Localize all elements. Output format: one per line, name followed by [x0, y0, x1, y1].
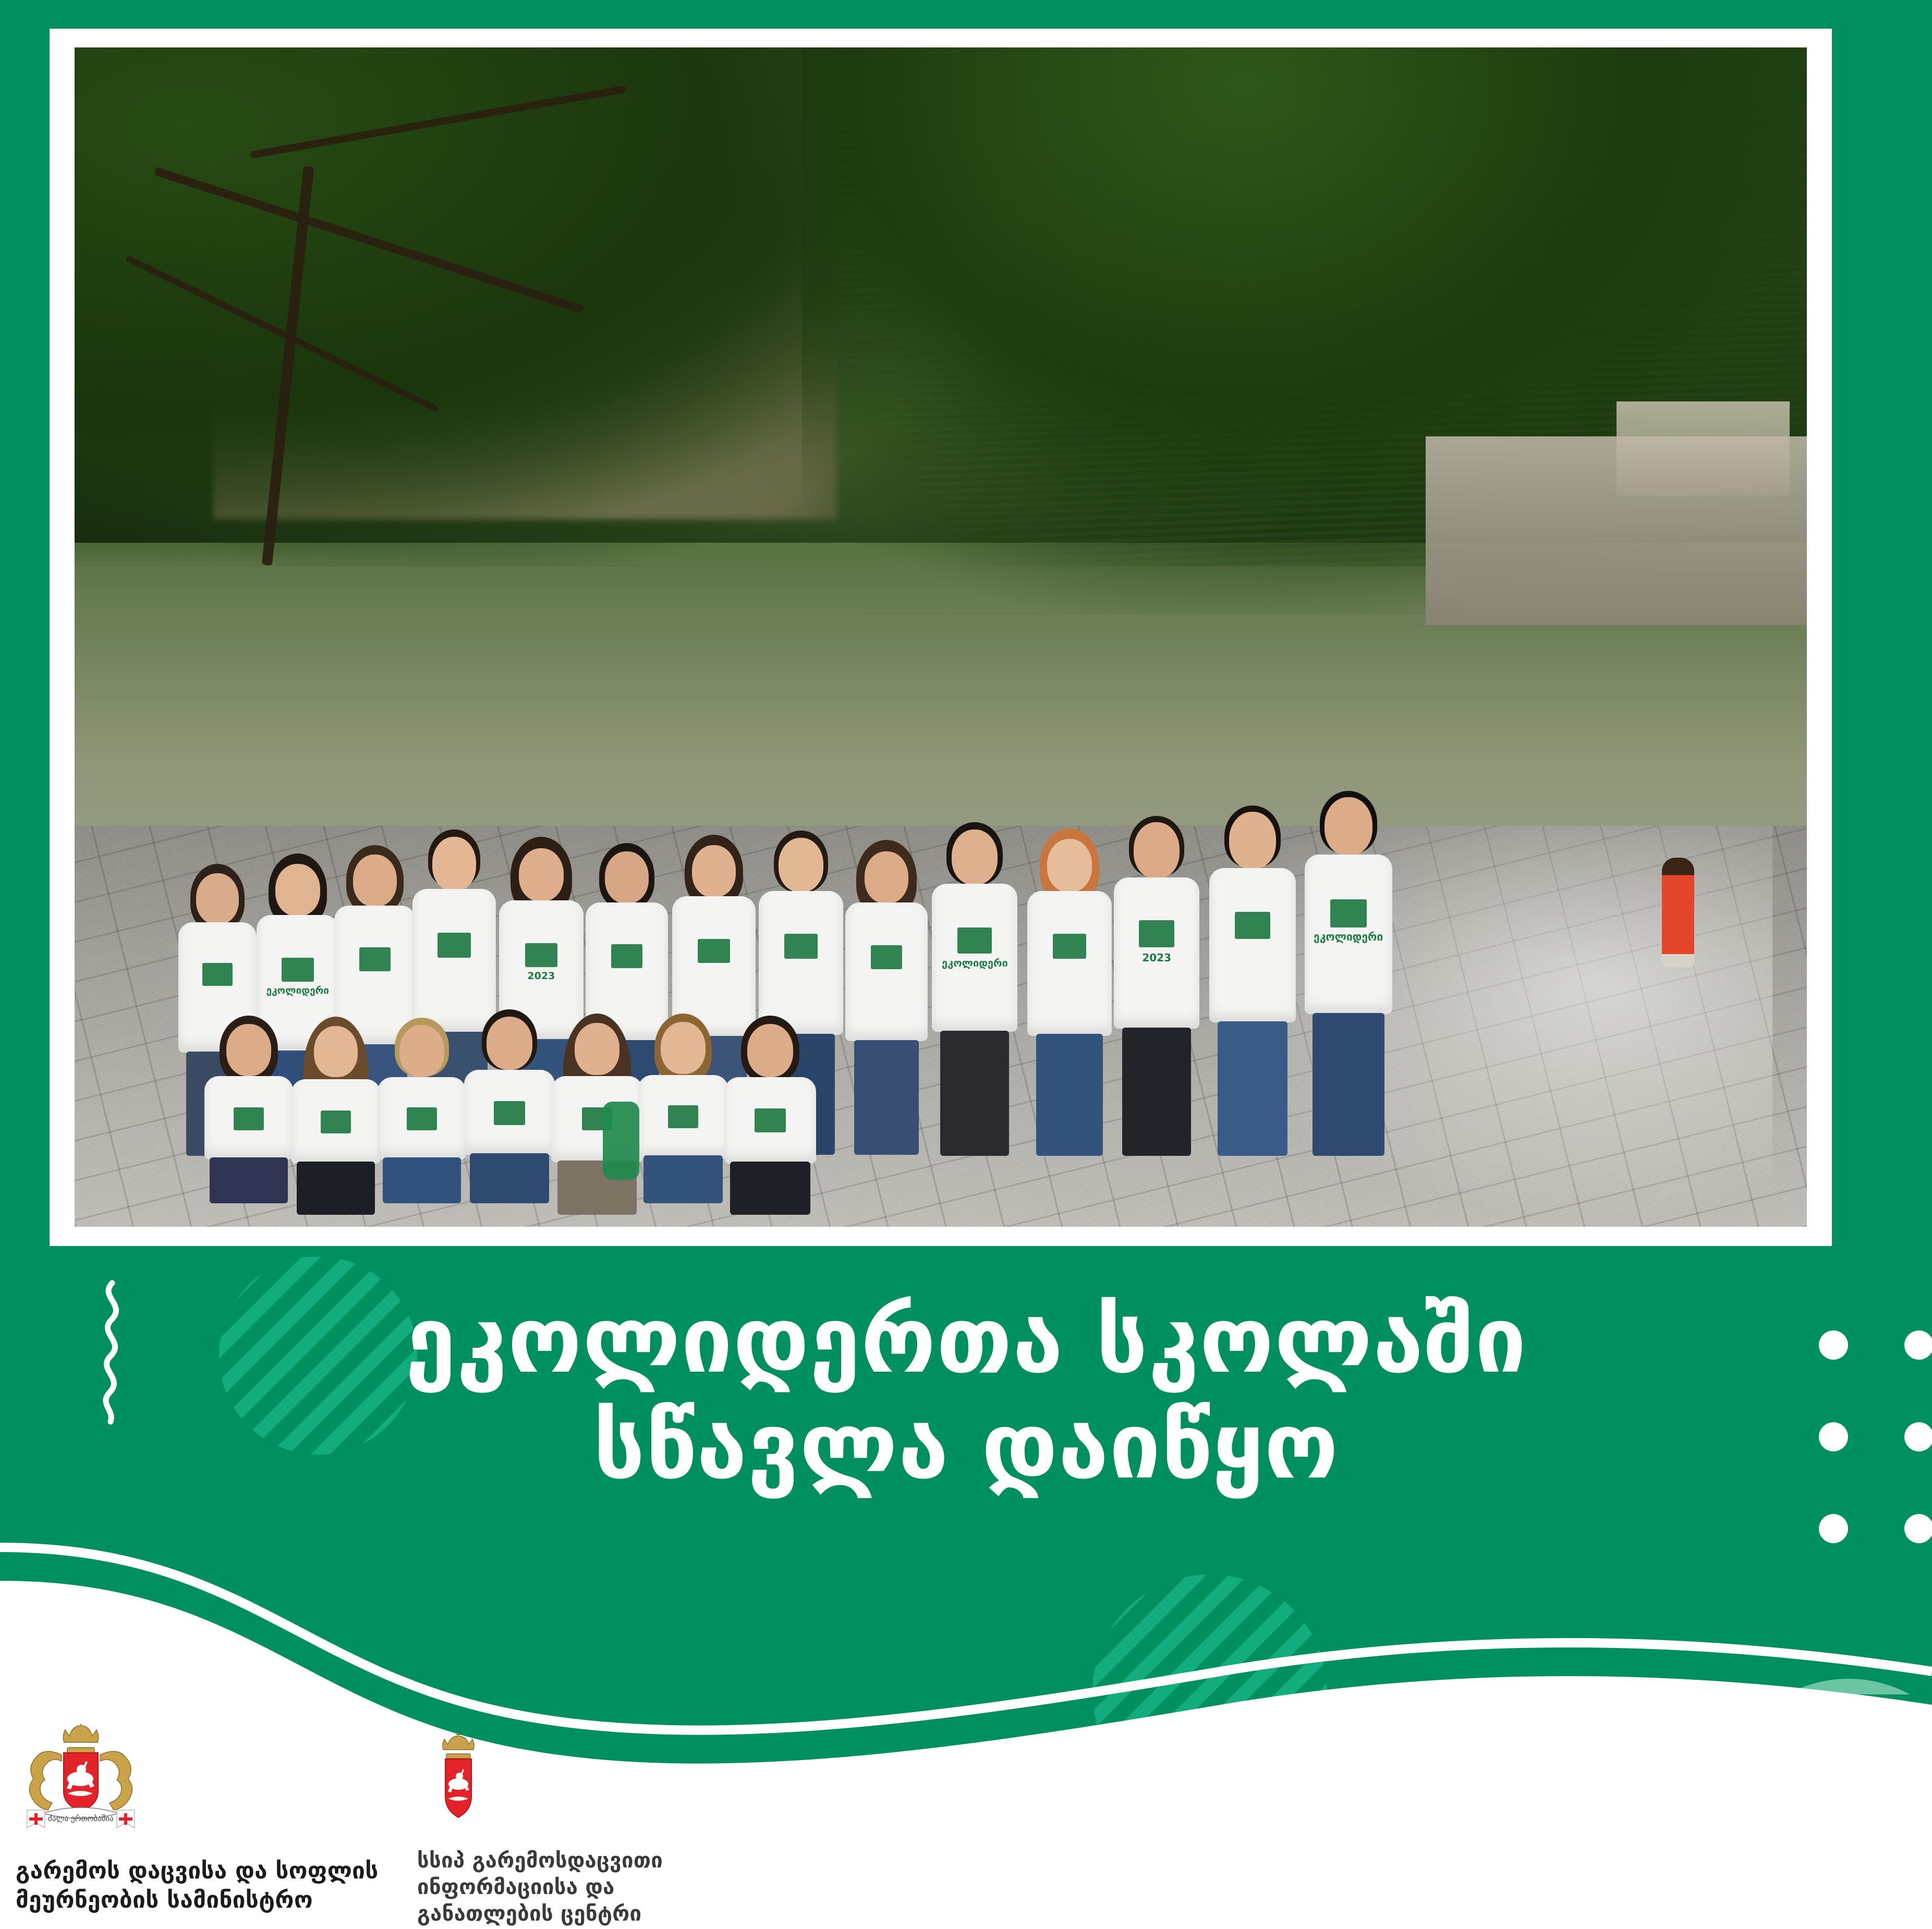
photo-person: ეკოლიდერი: [1305, 791, 1392, 1156]
photo-person-front: [378, 1018, 466, 1203]
tshirt-text: ეკოლიდერი: [1314, 931, 1383, 943]
photo-person: 2023: [1114, 816, 1199, 1156]
org-eiec-name-line1: სსიპ გარემოსდაცვითი: [417, 1848, 663, 1874]
group-photo: ეკოლიდერი 2023: [75, 47, 1807, 1227]
org-eiec-name-line2: ინფორმაციისა და: [417, 1874, 663, 1901]
email-link[interactable]: info@eiec.gov.ge: [1395, 1830, 1676, 1868]
org-eiec-name-line3: განათლების ცენტრი: [417, 1901, 663, 1927]
photo-person-front: [724, 1016, 816, 1215]
tshirt-text: ეკოლიდერი: [942, 957, 1008, 969]
photo-person: [1027, 828, 1112, 1156]
photo-stone-wall-far: [1617, 401, 1790, 496]
photo-person: [1209, 805, 1296, 1156]
svg-text:ძალა ერთობაშია: ძალა ერთობაშია: [48, 1814, 114, 1823]
tshirt-text: ეკოლიდერი: [266, 985, 329, 996]
photo-card: ეკოლიდერი 2023: [50, 29, 1832, 1246]
photo-person-front: [291, 1017, 381, 1215]
footer: ძალა ერთობაშია გარემოს დაცვისა და სოფლის…: [0, 1715, 1932, 1929]
org-ministry-name: გარემოს დაცვისა და სოფლის მეურნეობის სამ…: [16, 1857, 379, 1915]
tshirt-text: 2023: [1142, 951, 1171, 964]
title-line-2: სწავლა დაიწყო: [0, 1394, 1932, 1499]
website-link[interactable]: www.eiec.gov.ge: [1069, 1830, 1344, 1868]
title-line-1: ეკოლიდერთა სკოლაში: [0, 1288, 1932, 1394]
photo-person-front: [464, 1009, 555, 1203]
contact-info: www.eiec.gov.ge | info@eiec.gov.ge: [1069, 1830, 1676, 1868]
photo-person: ეკოლიდერი: [932, 822, 1017, 1156]
tshirt-text: 2023: [527, 970, 555, 982]
georgia-coat-of-arms-icon: ძალა ერთობაშია: [16, 1720, 146, 1843]
photo-bag: [603, 1102, 639, 1180]
photo-person-front: [638, 1014, 728, 1203]
org-eiec: სსიპ გარემოსდაცვითი ინფორმაციისა და განა…: [417, 1730, 663, 1928]
org-ministry: ძალა ერთობაშია გარემოს დაცვისა და სოფლის…: [16, 1720, 379, 1915]
photo-person: [845, 840, 928, 1156]
photo-person-front: [204, 1016, 293, 1203]
georgia-shield-emblem-icon: [430, 1730, 487, 1834]
org-ministry-name-line1: გარემოს დაცვისა და სოფლის: [16, 1857, 379, 1886]
org-ministry-name-line2: მეურნეობის სამინისტრო: [16, 1886, 379, 1915]
page-title: ეკოლიდერთა სკოლაში სწავლა დაიწყო: [0, 1288, 1932, 1499]
contact-separator: |: [1355, 1830, 1384, 1868]
org-eiec-name: სსიპ გარემოსდაცვითი ინფორმაციისა და განა…: [417, 1848, 663, 1928]
photo-passerby: [1662, 858, 1694, 967]
